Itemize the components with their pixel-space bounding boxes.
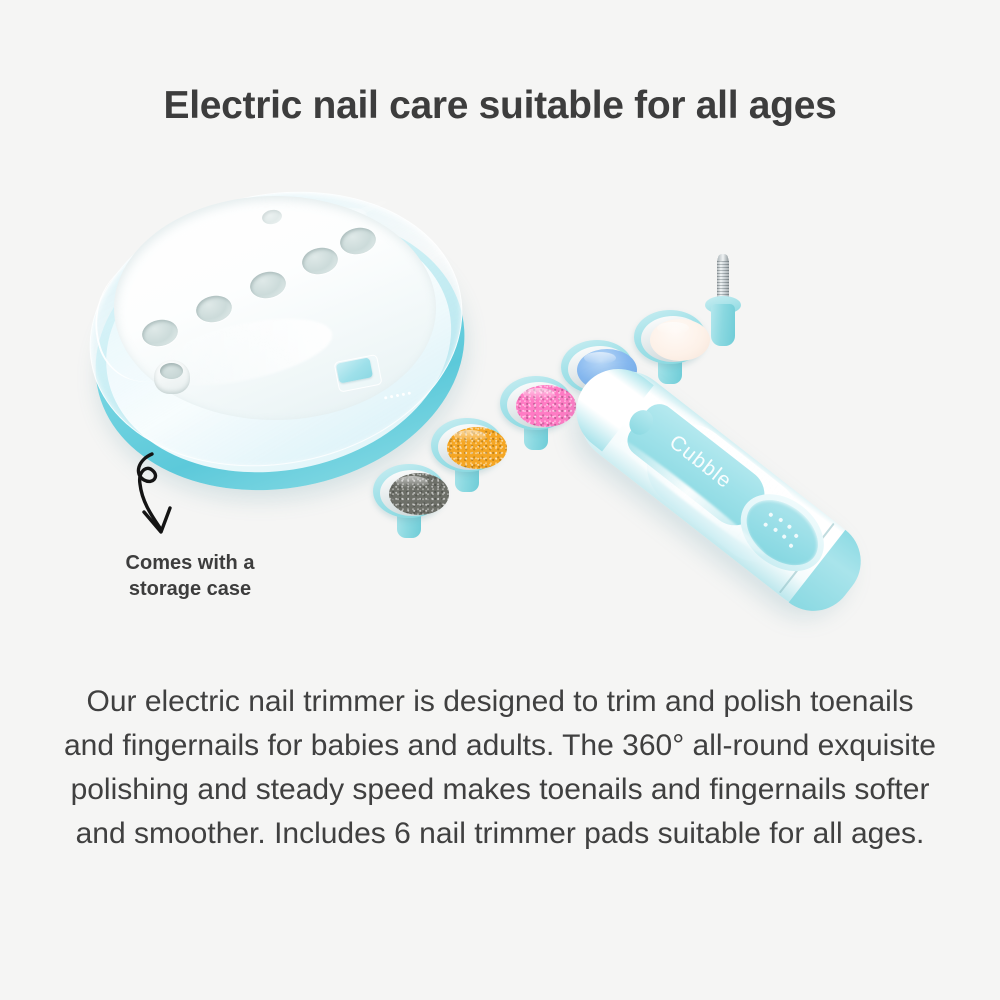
pad-metal-ring <box>438 424 502 470</box>
case-inner-tray <box>114 196 436 420</box>
storage-case <box>88 180 478 480</box>
case-hole <box>338 225 378 257</box>
page-title: Electric nail care suitable for all ages <box>0 84 1000 128</box>
pad-orange <box>428 410 506 498</box>
product-hero-illustration: Comes with a storage case <box>0 160 1000 660</box>
body-description: Our electric nail trimmer is designed to… <box>62 680 938 856</box>
case-hole <box>300 245 340 277</box>
case-socket-hole <box>160 363 183 379</box>
nail-trimmer-handle: Cubble <box>546 356 896 616</box>
case-socket <box>154 360 190 394</box>
bit-tip <box>718 254 728 261</box>
case-hole <box>248 269 288 301</box>
case-hole <box>261 208 283 226</box>
case-hole <box>194 293 234 325</box>
annotation-storage-case: Comes with a storage case <box>40 550 340 603</box>
curly-arrow-up-left-icon <box>108 450 218 550</box>
pad-base <box>431 418 503 472</box>
case-hole <box>140 317 180 349</box>
annotation-line-2: storage case <box>40 576 340 602</box>
product-marketing-image: Electric nail care suitable for all ages <box>0 0 1000 1000</box>
annotation-line-1: Comes with a <box>40 550 340 576</box>
